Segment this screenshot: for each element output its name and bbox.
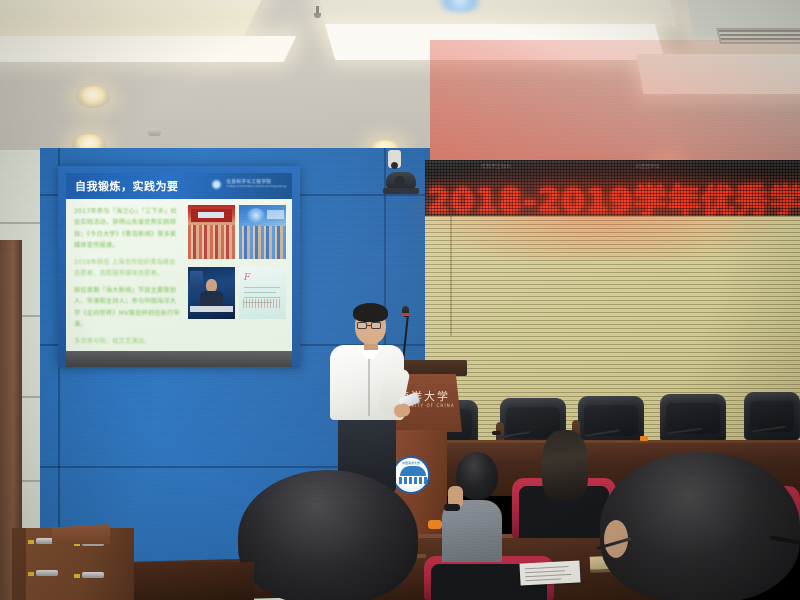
college-logo: 信息科学与工程学院 College of Information Science…	[210, 178, 286, 191]
ceiling-light-cove-center	[309, 0, 676, 26]
slide-bullet: 担任首期「海大新闻」节目主要策划人、导演和主持人；参与中国海洋大学《走向世界》M…	[74, 285, 182, 331]
ptz-camera-lens-icon	[394, 176, 405, 187]
foreground-student-head	[238, 470, 418, 600]
screen-unused-strip	[66, 351, 292, 367]
college-logo-name-en: College of Information Science and Engin…	[226, 186, 286, 189]
cabinet-side	[12, 528, 26, 600]
slide-photo-group-blue: 上合峰会志愿者	[239, 205, 286, 259]
ceiling-light-cove-left-inner	[0, 36, 296, 62]
camera-lens-icon	[391, 162, 398, 169]
speaker-hair	[353, 303, 388, 322]
slide-photo-news-anchor: 海大新闻 主持人	[188, 267, 235, 319]
speaker-glasses-bridge	[367, 325, 371, 326]
slide-bullet: 2017年参与「海之心」「三下乡」社会实践活动，获得山东省优秀实践项目；《今日大…	[74, 206, 182, 252]
smoke-detector-icon	[148, 128, 161, 136]
led-banner: 优秀学生标兵 评选答辩会 2018-2019学年优秀学生标兵	[425, 160, 800, 216]
cabinet-label-tag	[28, 572, 34, 576]
presentation-slide: 自我锻炼，实践为要 信息科学与工程学院 College of Informati…	[66, 173, 292, 351]
orange-desk-object	[640, 436, 648, 441]
emblem-text: 中国海洋大学	[394, 461, 428, 465]
foreground-student-head	[600, 452, 800, 600]
speaker-shirt-placket	[368, 356, 370, 416]
desk-papers	[519, 560, 580, 585]
cabinet-drawer-handle	[82, 572, 104, 578]
wall-mark	[450, 216, 452, 336]
ceiling-light-cove-center-inner	[325, 24, 665, 60]
college-logo-mark-icon	[210, 178, 223, 191]
slide-bullet: 2018年担任 上海合作组织青岛峰会 志愿者、志愿服务媒体志愿者。	[74, 257, 182, 280]
microphone-head-icon	[664, 427, 673, 431]
sprinkler-icon	[314, 6, 321, 18]
stage-chair	[578, 396, 644, 444]
stage-chair	[744, 392, 800, 440]
ceiling-light-cove-left	[0, 0, 276, 36]
slide-title: 自我锻炼，实践为要	[75, 178, 179, 194]
led-pixel-grid	[425, 160, 800, 216]
ceiling-light-cove-right-lower	[636, 54, 800, 94]
certificate-initial: F	[244, 273, 250, 283]
cabinet-drawer-handle	[36, 570, 58, 576]
speaker-glasses-right-lens	[371, 322, 381, 329]
anchor-lower-third	[190, 306, 233, 312]
lecture-hall-photo: 优秀学生标兵 评选答辩会 2018-2019学年优秀学生标兵 自我锻炼，实践为要…	[0, 0, 800, 600]
downlight-icon	[76, 86, 110, 108]
emblem-arc	[400, 466, 426, 476]
wristwatch-icon	[444, 504, 460, 511]
slide-bullet-list: 2017年参与「海之心」「三下乡」社会实践活动，获得山东省优秀实践项目；《今日大…	[74, 206, 182, 351]
slide-bullet: 多次参与院、校文艺演出。	[74, 336, 182, 347]
projection-screen: 自我锻炼，实践为要 信息科学与工程学院 College of Informati…	[58, 166, 300, 368]
stage-chair	[660, 394, 726, 442]
emblem-wave	[399, 477, 427, 484]
ptz-camera-mount	[383, 188, 419, 194]
ac-vent-icon	[716, 28, 800, 44]
audience-student-long-hair	[542, 430, 588, 500]
slide-body: 2017年参与「海之心」「三下乡」社会实践活动，获得山东省优秀实践项目；《今日大…	[66, 199, 292, 351]
certificate-ornament	[243, 299, 282, 308]
cabinet-label-tag	[28, 540, 34, 544]
slide-photo-certificate: F 优秀实践项目证书	[239, 267, 286, 319]
university-emblem-icon: 中国海洋大学	[392, 456, 430, 494]
side-desk	[134, 562, 254, 600]
microphone-red-band	[402, 313, 409, 316]
microphone-head-icon	[748, 425, 757, 429]
microphone-head-icon	[582, 429, 591, 433]
cabinet-label-tag	[74, 574, 80, 578]
orange-desk-object	[428, 520, 442, 529]
speaker-glasses-left-lens	[357, 322, 367, 329]
slide-photo-group-red: 社会实践团队合影	[188, 205, 235, 259]
slide-header: 自我锻炼，实践为要 信息科学与工程学院 College of Informati…	[66, 173, 292, 199]
microphone-head-icon	[492, 431, 501, 435]
slide-photo-grid: 社会实践团队合影 上合峰会志愿者 海大新闻 主持人	[188, 205, 286, 345]
